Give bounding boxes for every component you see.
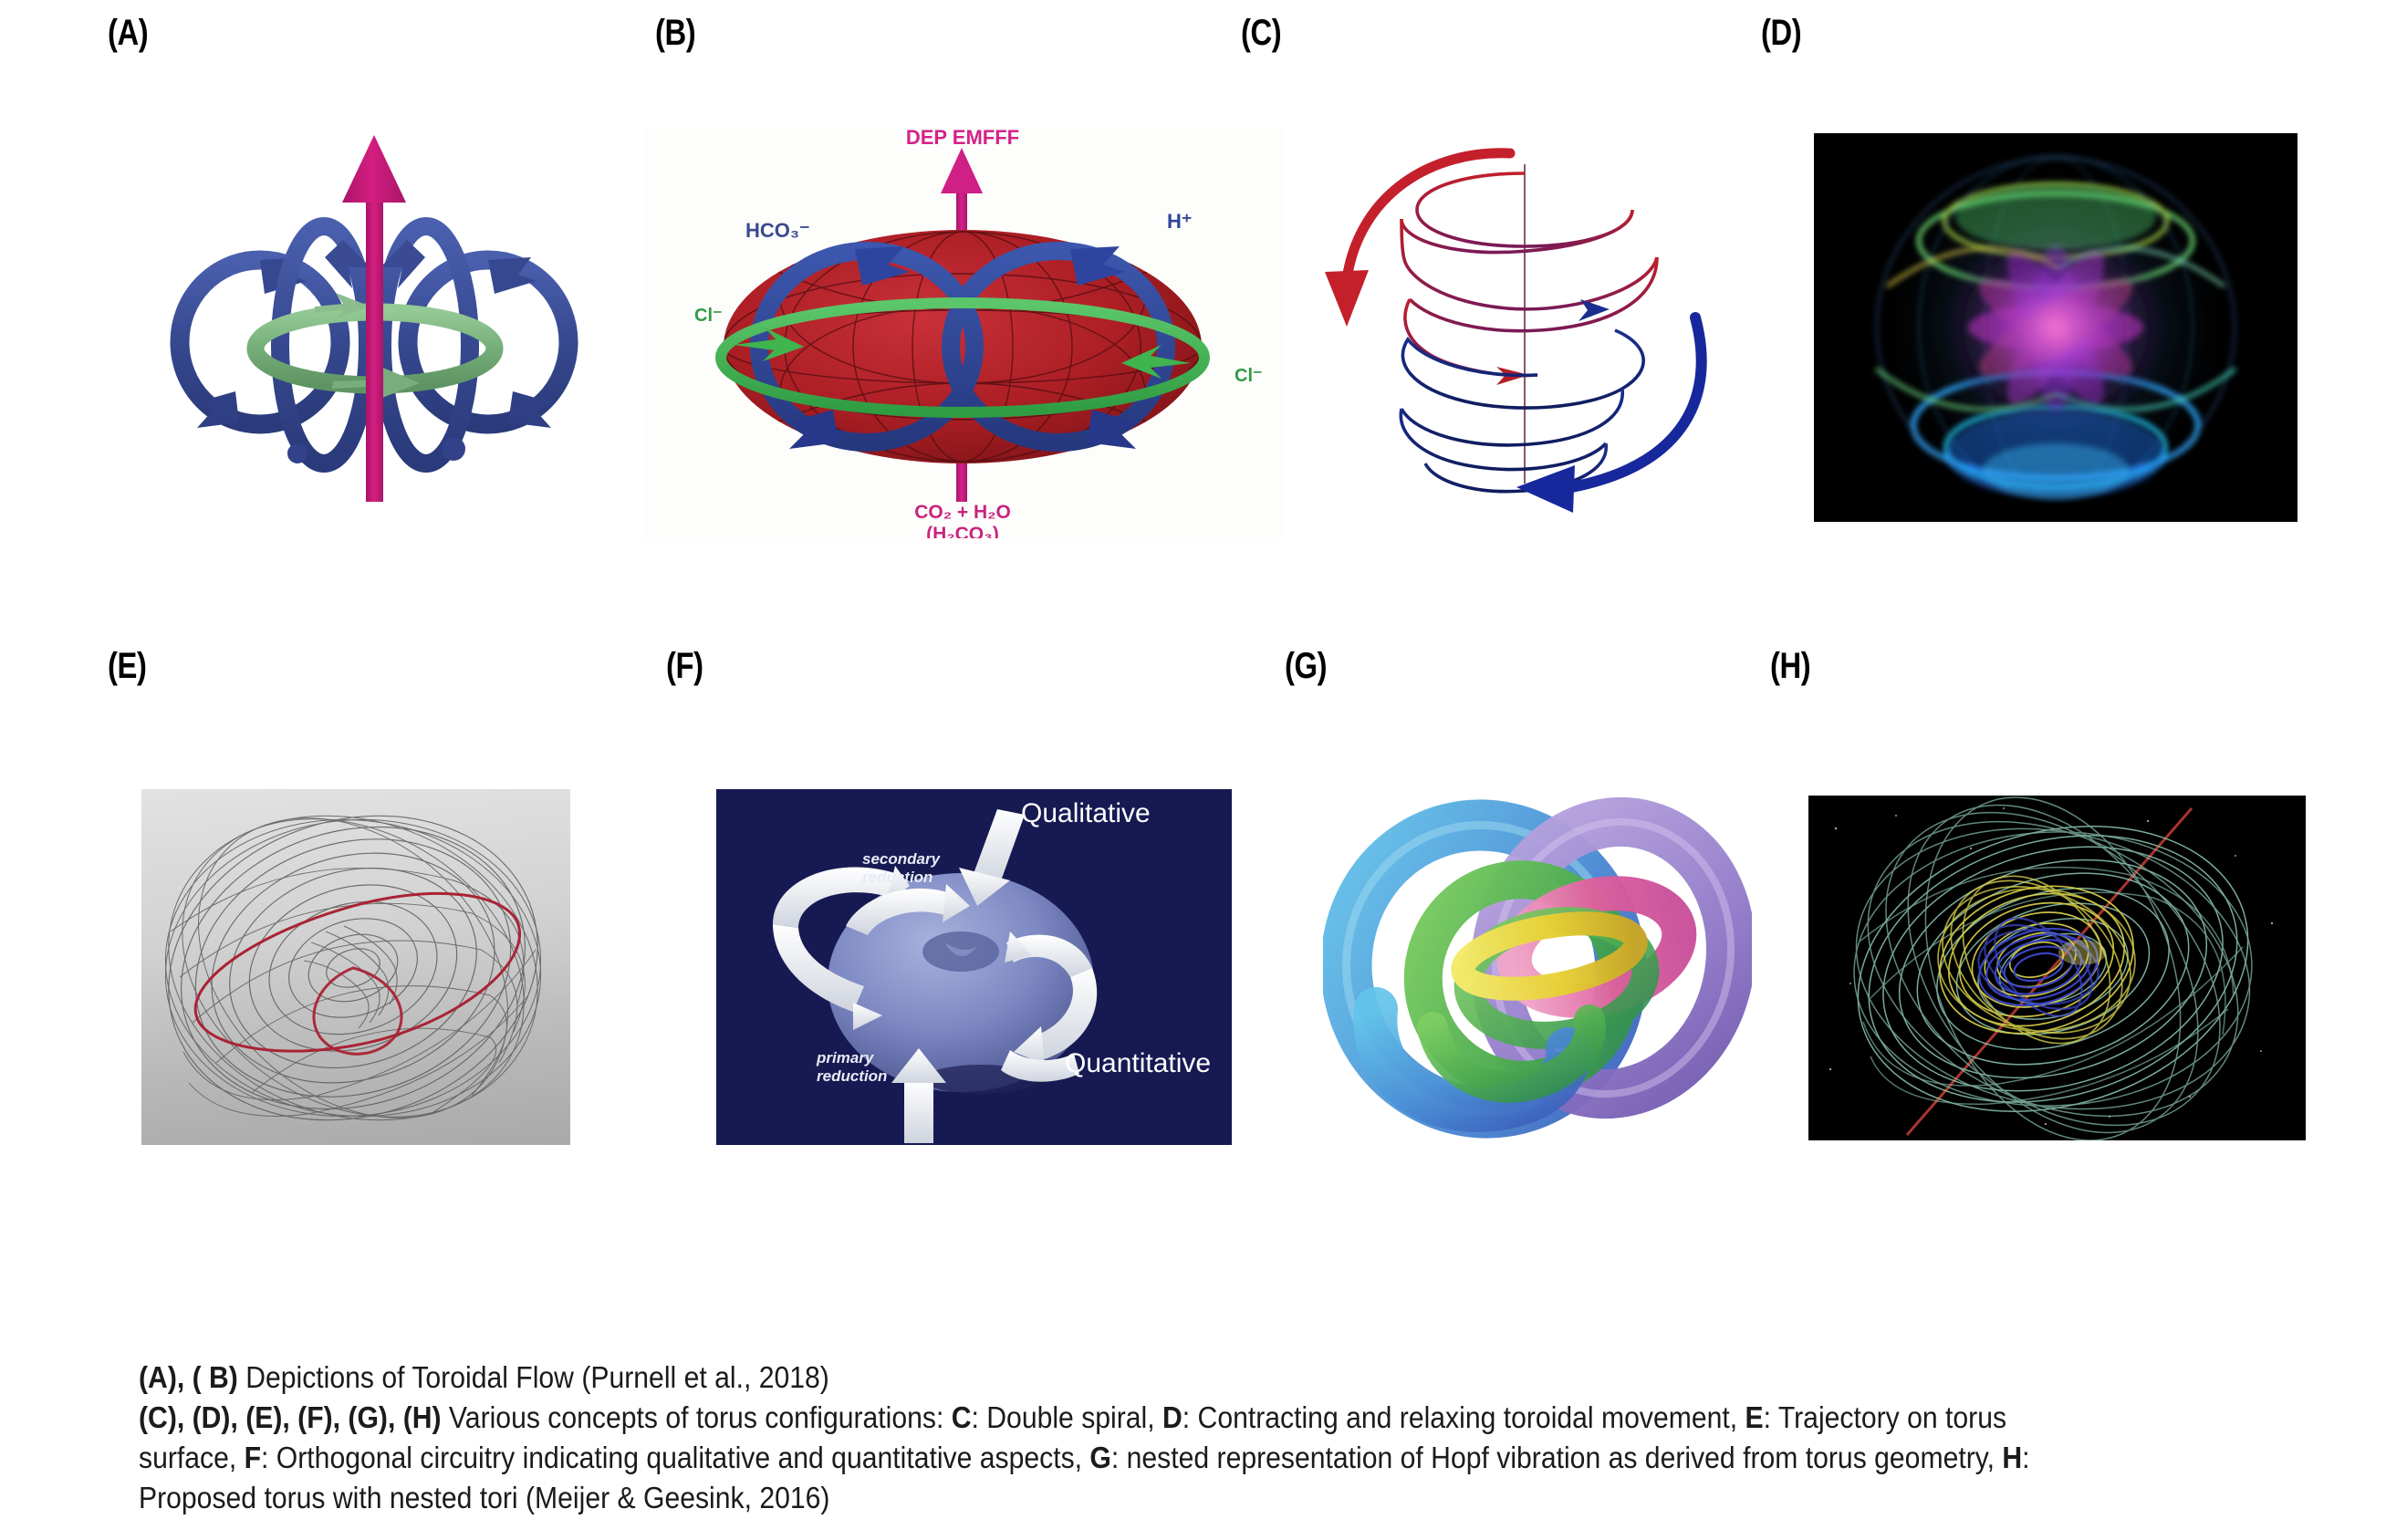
core-glow [1937, 218, 2174, 437]
caption-ref-g: G [1089, 1441, 1110, 1475]
panel-label-f: (F) [666, 646, 703, 687]
label-h2co3: (H₂CO₃) [926, 524, 999, 538]
panel-g-image [1323, 786, 1752, 1151]
panel-a-figure [119, 119, 630, 529]
label-secondary-2: reduction [862, 869, 933, 886]
panel-f-image: Qualitative Quantitative secondary reduc… [716, 789, 1232, 1145]
caption-line2-text-a: Various concepts of torus configurations… [442, 1401, 952, 1435]
spiral-upper-red [1401, 173, 1657, 376]
panel-label-a: (A) [108, 13, 148, 54]
label-dep-emfff: DEP EMFFF [906, 128, 1019, 149]
caption-ref-e: E [1745, 1401, 1764, 1435]
poloidal-loop-inner-right [380, 226, 470, 463]
label-primary-2: reduction [817, 1067, 887, 1085]
red-sweep-arrowhead [1325, 270, 1369, 327]
panel-b-figure: HCO₃⁻ H⁺ Cl⁻ Cl⁻ DEP EMFFF CO₂ + H₂O (H₂… [643, 128, 1282, 538]
panel-d-image [1814, 133, 2297, 522]
torus-ion-flow-svg: HCO₃⁻ H⁺ Cl⁻ Cl⁻ DEP EMFFF CO₂ + H₂O (H₂… [643, 128, 1282, 538]
panel-label-d: (D) [1761, 13, 1801, 54]
wireframe-torus-svg [141, 789, 570, 1145]
trajectory-curve-red [181, 872, 537, 1077]
caption-line1-text: Depictions of Toroidal Flow (Purnell et … [238, 1361, 829, 1395]
nested-hopf-rings-svg [1323, 786, 1752, 1151]
caption-ref-d: D [1162, 1401, 1183, 1435]
caption-line2-bold: (C), (D), (E), (F), (G), (H) [139, 1401, 442, 1435]
nested-tori-svg [1808, 796, 2306, 1140]
panel-label-e: (E) [108, 646, 146, 687]
red-sweep-arrow [1347, 153, 1510, 279]
caption-line2-text-b: : Double spiral, [972, 1401, 1162, 1435]
caption-line1-bold: (A), ( B) [139, 1361, 238, 1395]
orthogonal-circuitry-svg: Qualitative Quantitative secondary reduc… [716, 789, 1232, 1145]
panel-label-c: (C) [1241, 13, 1281, 54]
spiral-lower-blue [1401, 330, 1643, 492]
caption-line2-text-c: : Contracting and relaxing toroidal move… [1183, 1401, 1745, 1435]
double-spiral-svg [1223, 119, 1752, 529]
caption-line-2: (C), (D), (E), (F), (G), (H) Various con… [139, 1399, 2052, 1519]
label-qualitative: Qualitative [1021, 798, 1151, 828]
caption-ref-h: H [2002, 1441, 2022, 1475]
caption-line2-text-e: : Orthogonal circuitry indicating qualit… [261, 1441, 1089, 1475]
panel-e-image [141, 789, 570, 1145]
caption-line-1: (A), ( B) Depictions of Toroidal Flow (P… [139, 1358, 2052, 1399]
label-hco3: HCO₃⁻ [745, 219, 810, 242]
panel-label-g: (G) [1285, 646, 1327, 687]
panel-label-h: (H) [1770, 646, 1810, 687]
label-co2-h2o: CO₂ + H₂O [914, 502, 1011, 523]
label-secondary-1: secondary [862, 850, 942, 868]
label-h-plus: H⁺ [1167, 210, 1193, 233]
caption-ref-f: F [245, 1441, 261, 1475]
figure-caption: (A), ( B) Depictions of Toroidal Flow (P… [139, 1358, 2052, 1519]
toroidal-energy-field-svg [1814, 133, 2297, 522]
toroidal-flow-svg [119, 119, 630, 529]
bottom-blue-glow [1946, 411, 2165, 498]
caption-ref-c: C [952, 1401, 972, 1435]
axis-arrowhead [941, 148, 983, 193]
core-brightspot [2058, 940, 2106, 965]
label-primary-1: primary [816, 1049, 875, 1067]
top-green-glow [1955, 184, 2156, 250]
panel-h-image [1808, 796, 2306, 1140]
panel-label-b: (B) [655, 13, 695, 54]
poloidal-loop-inner-left [280, 226, 370, 463]
label-cl-left: Cl⁻ [694, 306, 723, 326]
caption-line2-text-f: : nested representation of Hopf vibratio… [1111, 1441, 2002, 1475]
label-quantitative: Quantitative [1065, 1048, 1211, 1078]
panel-c-figure [1223, 119, 1752, 529]
